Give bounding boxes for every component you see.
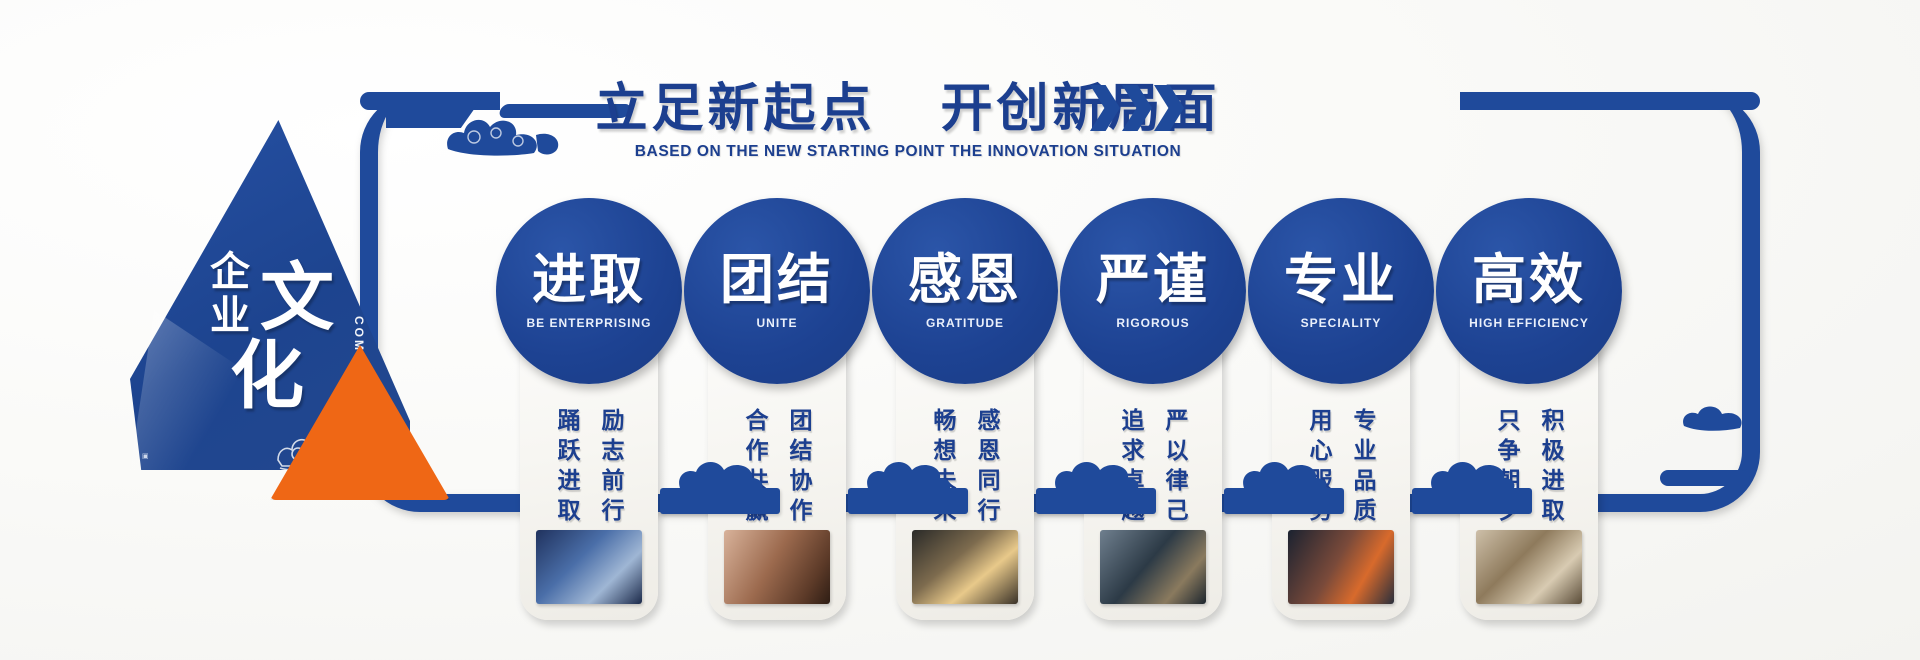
value-motto-right: 积极进取: [1534, 408, 1568, 528]
cloud-base-icon: [1426, 456, 1518, 490]
base-strip: [1412, 488, 1532, 514]
company-culture-logo: 企业 文 化 COMPANY CULTURE ▣: [120, 120, 420, 510]
value-photo: [1476, 530, 1582, 604]
value-pill[interactable]: 感恩GRATITUDE畅想未来感恩同行: [896, 230, 1034, 620]
cloud-ornament-right-icon: [1680, 400, 1750, 436]
value-motto-right: 励志前行: [594, 408, 628, 528]
value-pill[interactable]: 专业SPECIALITY用心服务专业品质: [1272, 230, 1410, 620]
chevron-right-icon: [1122, 85, 1152, 131]
value-motto-right: 严以律己: [1158, 408, 1192, 528]
chevron-right-icon: [1090, 85, 1120, 131]
value-circle[interactable]: 专业SPECIALITY: [1248, 198, 1434, 384]
value-title: 高效: [1472, 253, 1586, 307]
value-motto-right: 专业品质: [1346, 408, 1380, 528]
value-title: 感恩: [908, 253, 1022, 307]
value-subtitle: SPECIALITY: [1301, 316, 1382, 330]
value-subtitle: GRATITUDE: [926, 316, 1004, 330]
value-circle[interactable]: 感恩GRATITUDE: [872, 198, 1058, 384]
base-strip: [1224, 488, 1344, 514]
base-strip: [848, 488, 968, 514]
value-photo: [912, 530, 1018, 604]
value-motto-right: 感恩同行: [970, 408, 1004, 528]
chevron-arrows: [1090, 85, 1184, 131]
value-pill-row: 进取BE ENTERPRISING踊跃进取励志前行团结UNITE合作共赢团结协作…: [520, 230, 1598, 620]
base-strip: [660, 488, 780, 514]
logo-corner-mark: ▣: [142, 452, 149, 460]
value-pill[interactable]: 团结UNITE合作共赢团结协作: [708, 230, 846, 620]
value-circle[interactable]: 严谨RIGOROUS: [1060, 198, 1246, 384]
cloud-base-icon: [862, 456, 954, 490]
value-title: 严谨: [1096, 253, 1210, 307]
value-title: 专业: [1284, 253, 1398, 307]
value-subtitle: UNITE: [757, 316, 798, 330]
value-motto-right: 团结协作: [782, 408, 816, 528]
value-subtitle: HIGH EFFICIENCY: [1469, 316, 1589, 330]
cloud-base-icon: [1050, 456, 1142, 490]
headline-english: BASED ON THE NEW STARTING POINT THE INNO…: [548, 143, 1268, 161]
value-subtitle: RIGOROUS: [1116, 316, 1189, 330]
value-photo: [1100, 530, 1206, 604]
value-circle[interactable]: 进取BE ENTERPRISING: [496, 198, 682, 384]
value-circle[interactable]: 高效HIGH EFFICIENCY: [1436, 198, 1622, 384]
logo-char-hua: 化: [230, 316, 304, 423]
headline-chinese-left: 立足新起点: [596, 80, 876, 138]
value-circle[interactable]: 团结UNITE: [684, 198, 870, 384]
base-strip: [1036, 488, 1156, 514]
value-pill[interactable]: 高效HIGH EFFICIENCY只争朝夕积极进取: [1460, 230, 1598, 620]
value-subtitle: BE ENTERPRISING: [526, 316, 651, 330]
value-photo: [1288, 530, 1394, 604]
value-title: 团结: [720, 253, 834, 307]
value-photo: [536, 530, 642, 604]
value-pill[interactable]: 进取BE ENTERPRISING踊跃进取励志前行: [520, 230, 658, 620]
value-title: 进取: [532, 253, 646, 307]
value-mottos: 踊跃进取励志前行: [520, 408, 658, 528]
frame-right-accent-bar: [1660, 470, 1750, 486]
frame-top-right-bar: [1460, 92, 1760, 110]
value-pill[interactable]: 严谨RIGOROUS追求卓越严以律己: [1084, 230, 1222, 620]
cloud-base-icon: [1238, 456, 1330, 490]
value-photo: [724, 530, 830, 604]
value-motto-left: 踊跃进取: [550, 408, 584, 528]
cloud-base-icon: [674, 456, 766, 490]
chevron-right-icon: [1154, 85, 1184, 131]
